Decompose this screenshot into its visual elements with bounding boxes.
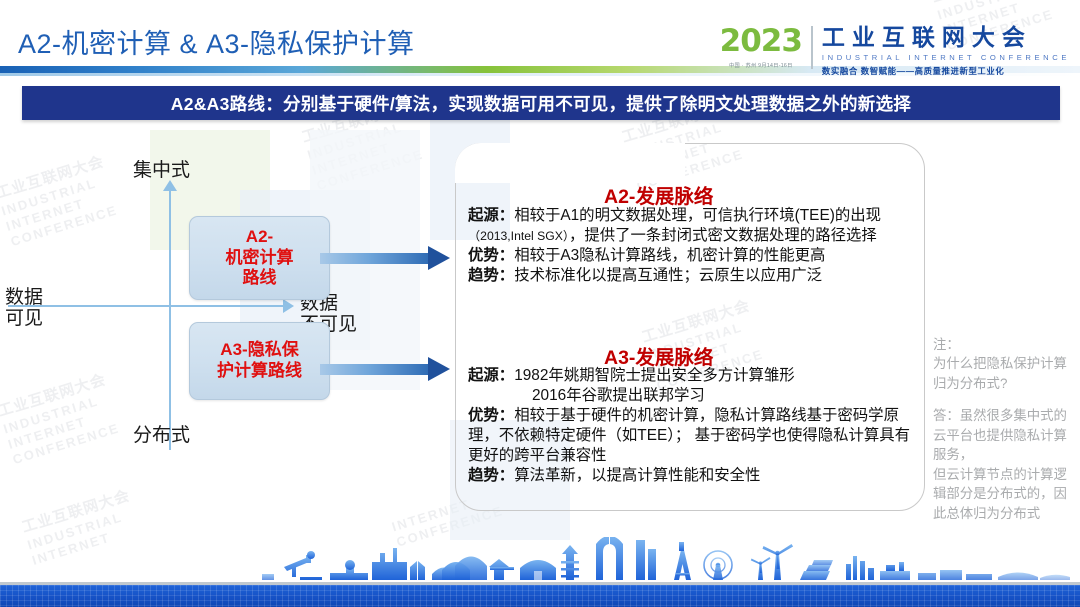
a3-origin-line1: 1982年姚期智院士提出安全多方计算雏形: [514, 367, 795, 384]
logo-year: 2023: [720, 26, 802, 57]
a3-trend-label: 趋势：: [468, 467, 514, 484]
route-box-a2[interactable]: A2- 机密计算 路线: [189, 216, 330, 300]
axis-label-left-line2: 可见: [5, 308, 43, 329]
logo-tagline: 数实融合 数智赋能——高质量推进新型工业化: [822, 65, 1070, 77]
vertical-axis-arrow-icon: [163, 180, 177, 191]
route-box-a2-text: A2- 机密计算 路线: [226, 227, 294, 289]
logo-year-subtitle: 中国 · 苏州 9月14日-16日: [720, 62, 802, 69]
a3-row-origin: 起源：1982年姚期智院士提出安全多方计算雏形 2016年谷歌提出联邦学习: [468, 366, 918, 406]
a3-section-body: 起源：1982年姚期智院士提出安全多方计算雏形 2016年谷歌提出联邦学习 优势…: [468, 366, 918, 486]
logo-name-cn: 工业互联网大会: [822, 26, 1070, 49]
axis-label-top: 集中式: [133, 160, 190, 181]
a2-origin-label: 起源：: [468, 207, 514, 224]
route-a3-line2: 护计算路线: [217, 361, 302, 380]
a2-origin-text-b: ，提供了一条封闭式密文数据处理的路径选择: [569, 227, 877, 244]
note-question: 为什么把隐私保护计算归为分布式?: [933, 354, 1079, 393]
route-a2-line1: A2-: [246, 227, 273, 246]
arrow-shaft: [320, 364, 429, 375]
logo-year-group: 2023 中国 · 苏州 9月14日-16日: [720, 26, 813, 69]
a2-origin-text-a: 相较于A1的明文数据处理，可信执行环境(TEE)的出现: [514, 207, 881, 224]
logo-name-en: INDUSTRIAL INTERNET CONFERENCE: [822, 53, 1070, 62]
a3-advantage-label: 优势：: [468, 407, 514, 424]
arrow-a3-to-content: [320, 357, 450, 381]
watermark-cn: 工业互联网大会: [930, 0, 1043, 8]
a3-row-trend: 趋势：算法革新，以提高计算性能和安全性: [468, 466, 918, 486]
a2-row-advantage: 优势：相较于A3隐私计算路线，机密计算的性能更高: [468, 246, 918, 266]
note-spacer: [933, 393, 1079, 406]
a2-trend-label: 趋势：: [468, 267, 514, 284]
footer-graphic: [0, 537, 1080, 607]
page-title: A2-机密计算 & A3-隐私保护计算: [18, 22, 415, 61]
note-q-label: 注：: [933, 335, 1079, 354]
a2-trend-text: 技术标准化以提高互通性；云原生以应用广泛: [514, 267, 822, 284]
vertical-axis: [169, 188, 171, 450]
route-box-a3[interactable]: A3-隐私保 护计算路线: [189, 322, 330, 400]
a2-row-trend: 趋势：技术标准化以提高互通性；云原生以应用广泛: [468, 266, 918, 286]
arrow-head-icon: [428, 357, 450, 381]
note-answer-line2: 但云计算节点的计算逻辑部分是分布式的，因此总体归为分布式: [933, 465, 1079, 523]
axis-label-left: 数据 可见: [5, 287, 43, 330]
headline-banner-text: A2&A3路线：分别基于硬件/算法，实现数据可用不可见，提供了除明文处理数据之外…: [171, 91, 911, 116]
logo-name-group: 工业互联网大会 INDUSTRIAL INTERNET CONFERENCE 数…: [822, 26, 1070, 77]
skyline-illustration: [0, 537, 1080, 585]
arrow-head-icon: [428, 246, 450, 270]
watermark-en: INDUSTRIAL: [935, 0, 1047, 23]
arrow-a2-to-content: [320, 246, 450, 270]
route-a3-line1: A3-隐私保: [220, 340, 298, 359]
a2-section-body: 起源：相较于A1的明文数据处理，可信执行环境(TEE)的出现 （2013,Int…: [468, 206, 918, 286]
footer-water-band: [0, 585, 1080, 607]
watermark-cn: 工业互联网大会: [20, 487, 133, 538]
horizontal-axis-arrow-icon: [283, 299, 294, 313]
quadrant-diagram: 集中式 分布式 数据 可见 数据 不可见 A2- 机密计算 路线 A3-隐私保 …: [0, 150, 450, 470]
slide-root: 工业互联网大会 INDUSTRIAL INTERNET CONFERENCE 工…: [0, 0, 1080, 607]
headline-banner: A2&A3路线：分别基于硬件/算法，实现数据可用不可见，提供了除明文处理数据之外…: [22, 86, 1060, 120]
side-note: 注： 为什么把隐私保护计算归为分布式? 答：虽然很多集中式的云平台也提供隐私计算…: [933, 335, 1079, 523]
horizontal-axis: [8, 305, 284, 307]
a2-row-origin: 起源：相较于A1的明文数据处理，可信执行环境(TEE)的出现 （2013,Int…: [468, 206, 918, 246]
note-answer: 答：虽然很多集中式的云平台也提供隐私计算服务，: [933, 406, 1079, 464]
axis-label-bottom: 分布式: [133, 425, 190, 446]
conference-logo: 2023 中国 · 苏州 9月14日-16日 工业互联网大会 INDUSTRIA…: [720, 26, 1070, 77]
a2-advantage-label: 优势：: [468, 247, 514, 264]
route-box-a3-text: A3-隐私保 护计算路线: [217, 340, 302, 381]
a3-origin-label: 起源：: [468, 367, 514, 384]
a3-row-advantage: 优势：相较于基于硬件的机密计算，隐私计算路线基于密码学原理，不依赖特定硬件（如T…: [468, 406, 918, 466]
a2-advantage-text: 相较于A3隐私计算路线，机密计算的性能更高: [514, 247, 825, 264]
a3-origin-line2: 2016年谷歌提出联邦学习: [532, 387, 705, 404]
a2-section-title: A2-发展脉络: [604, 180, 713, 209]
route-a2-line2: 机密计算: [226, 248, 294, 267]
axis-label-left-line1: 数据: [5, 287, 43, 308]
a2-origin-paren: （2013,Intel SGX）: [468, 229, 569, 243]
arrow-shaft: [320, 253, 429, 264]
note-answer-label: 答：: [933, 408, 960, 423]
route-a2-line3: 路线: [243, 268, 277, 287]
a3-trend-line1: 算法革新，以提高计算性能和安全性: [514, 467, 760, 484]
